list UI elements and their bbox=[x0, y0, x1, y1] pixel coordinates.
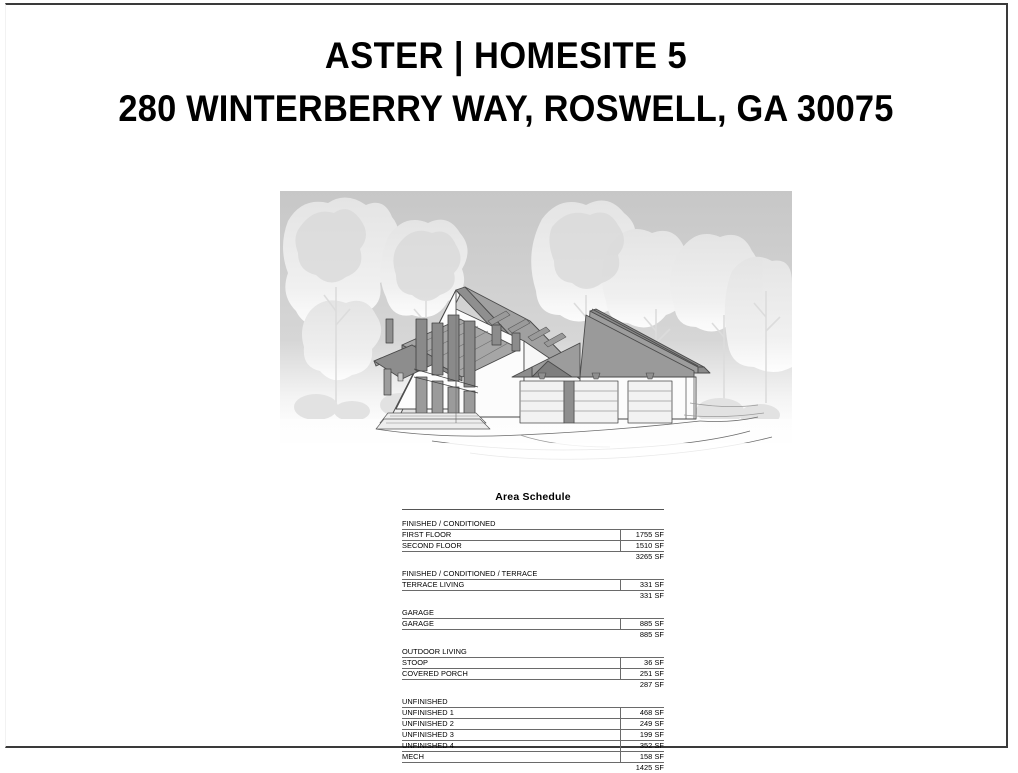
area-group-heading-row: FINISHED / CONDITIONED bbox=[402, 518, 664, 530]
area-row-value: 468 SF bbox=[621, 708, 665, 719]
area-row-value: 36 SF bbox=[621, 658, 665, 669]
area-row-value: 199 SF bbox=[621, 730, 665, 741]
area-row-value: 158 SF bbox=[621, 752, 665, 763]
area-row-value: 885 SF bbox=[621, 619, 665, 630]
area-group-blank bbox=[621, 607, 665, 619]
area-group-blank bbox=[621, 696, 665, 708]
area-row-value: 352 SF bbox=[621, 741, 665, 752]
area-group-name: OUTDOOR LIVING bbox=[402, 646, 621, 658]
area-subtotal-blank bbox=[402, 630, 621, 641]
area-group-name: UNFINISHED bbox=[402, 696, 621, 708]
area-row: COVERED PORCH251 SF bbox=[402, 669, 664, 680]
area-row-label: COVERED PORCH bbox=[402, 669, 621, 680]
area-subtotal-row: 885 SF bbox=[402, 630, 664, 641]
area-subtotal-value: 331 SF bbox=[621, 591, 665, 602]
drawing-sheet: ASTER | HOMESITE 5 280 WINTERBERRY WAY, … bbox=[5, 3, 1008, 748]
area-schedule: Area Schedule FINISHED / CONDITIONEDFIRS… bbox=[402, 491, 664, 773]
area-row-label: STOOP bbox=[402, 658, 621, 669]
area-group-heading-row: UNFINISHED bbox=[402, 696, 664, 708]
area-row-value: 251 SF bbox=[621, 669, 665, 680]
title-line-address: 280 WINTERBERRY WAY, ROSWELL, GA 30075 bbox=[41, 88, 971, 129]
area-subtotal-row: 287 SF bbox=[402, 680, 664, 691]
area-subtotal-blank bbox=[402, 680, 621, 691]
area-row: UNFINISHED 4352 SF bbox=[402, 741, 664, 752]
area-row: GARAGE885 SF bbox=[402, 619, 664, 630]
area-group-name: FINISHED / CONDITIONED / TERRACE bbox=[402, 568, 621, 580]
area-row-label: TERRACE LIVING bbox=[402, 580, 621, 591]
area-row: UNFINISHED 1468 SF bbox=[402, 708, 664, 719]
architectural-rendering-image bbox=[280, 191, 792, 463]
area-row-label: UNFINISHED 2 bbox=[402, 719, 621, 730]
area-row-label: MECH bbox=[402, 752, 621, 763]
area-row-label: SECOND FLOOR bbox=[402, 541, 621, 552]
area-row: SECOND FLOOR1510 SF bbox=[402, 541, 664, 552]
area-subtotal-blank bbox=[402, 552, 621, 563]
area-group-name: GARAGE bbox=[402, 607, 621, 619]
area-row-value: 1510 SF bbox=[621, 541, 665, 552]
area-schedule-heading: Area Schedule bbox=[402, 491, 664, 509]
area-row: STOOP36 SF bbox=[402, 658, 664, 669]
area-row-value: 249 SF bbox=[621, 719, 665, 730]
area-subtotal-row: 331 SF bbox=[402, 591, 664, 602]
area-group-heading-row: OUTDOOR LIVING bbox=[402, 646, 664, 658]
area-row-label: FIRST FLOOR bbox=[402, 530, 621, 541]
area-group-blank bbox=[621, 518, 665, 530]
area-row-label: UNFINISHED 1 bbox=[402, 708, 621, 719]
area-subtotal-value: 3265 SF bbox=[621, 552, 665, 563]
area-schedule-body: FINISHED / CONDITIONEDFIRST FLOOR1755 SF… bbox=[402, 518, 664, 773]
area-row-label: GARAGE bbox=[402, 619, 621, 630]
area-subtotal-value: 885 SF bbox=[621, 630, 665, 641]
area-group-blank bbox=[621, 646, 665, 658]
area-group-heading-row: GARAGE bbox=[402, 607, 664, 619]
area-row: FIRST FLOOR1755 SF bbox=[402, 530, 664, 541]
area-subtotal-row: 3265 SF bbox=[402, 552, 664, 563]
area-schedule-divider bbox=[402, 509, 664, 510]
area-row-value: 1755 SF bbox=[621, 530, 665, 541]
area-schedule-table: FINISHED / CONDITIONEDFIRST FLOOR1755 SF… bbox=[402, 518, 664, 773]
area-group-blank bbox=[621, 568, 665, 580]
area-row-label: UNFINISHED 4 bbox=[402, 741, 621, 752]
title-line-project: ASTER | HOMESITE 5 bbox=[41, 35, 971, 76]
area-group-heading-row: FINISHED / CONDITIONED / TERRACE bbox=[402, 568, 664, 580]
area-group-name: FINISHED / CONDITIONED bbox=[402, 518, 621, 530]
area-row: MECH158 SF bbox=[402, 752, 664, 763]
area-row: TERRACE LIVING331 SF bbox=[402, 580, 664, 591]
area-row: UNFINISHED 2249 SF bbox=[402, 719, 664, 730]
area-row-value: 331 SF bbox=[621, 580, 665, 591]
area-subtotal-value: 287 SF bbox=[621, 680, 665, 691]
area-row-label: UNFINISHED 3 bbox=[402, 730, 621, 741]
area-subtotal-blank bbox=[402, 591, 621, 602]
page-title: ASTER | HOMESITE 5 280 WINTERBERRY WAY, … bbox=[6, 35, 1006, 130]
area-row: UNFINISHED 3199 SF bbox=[402, 730, 664, 741]
